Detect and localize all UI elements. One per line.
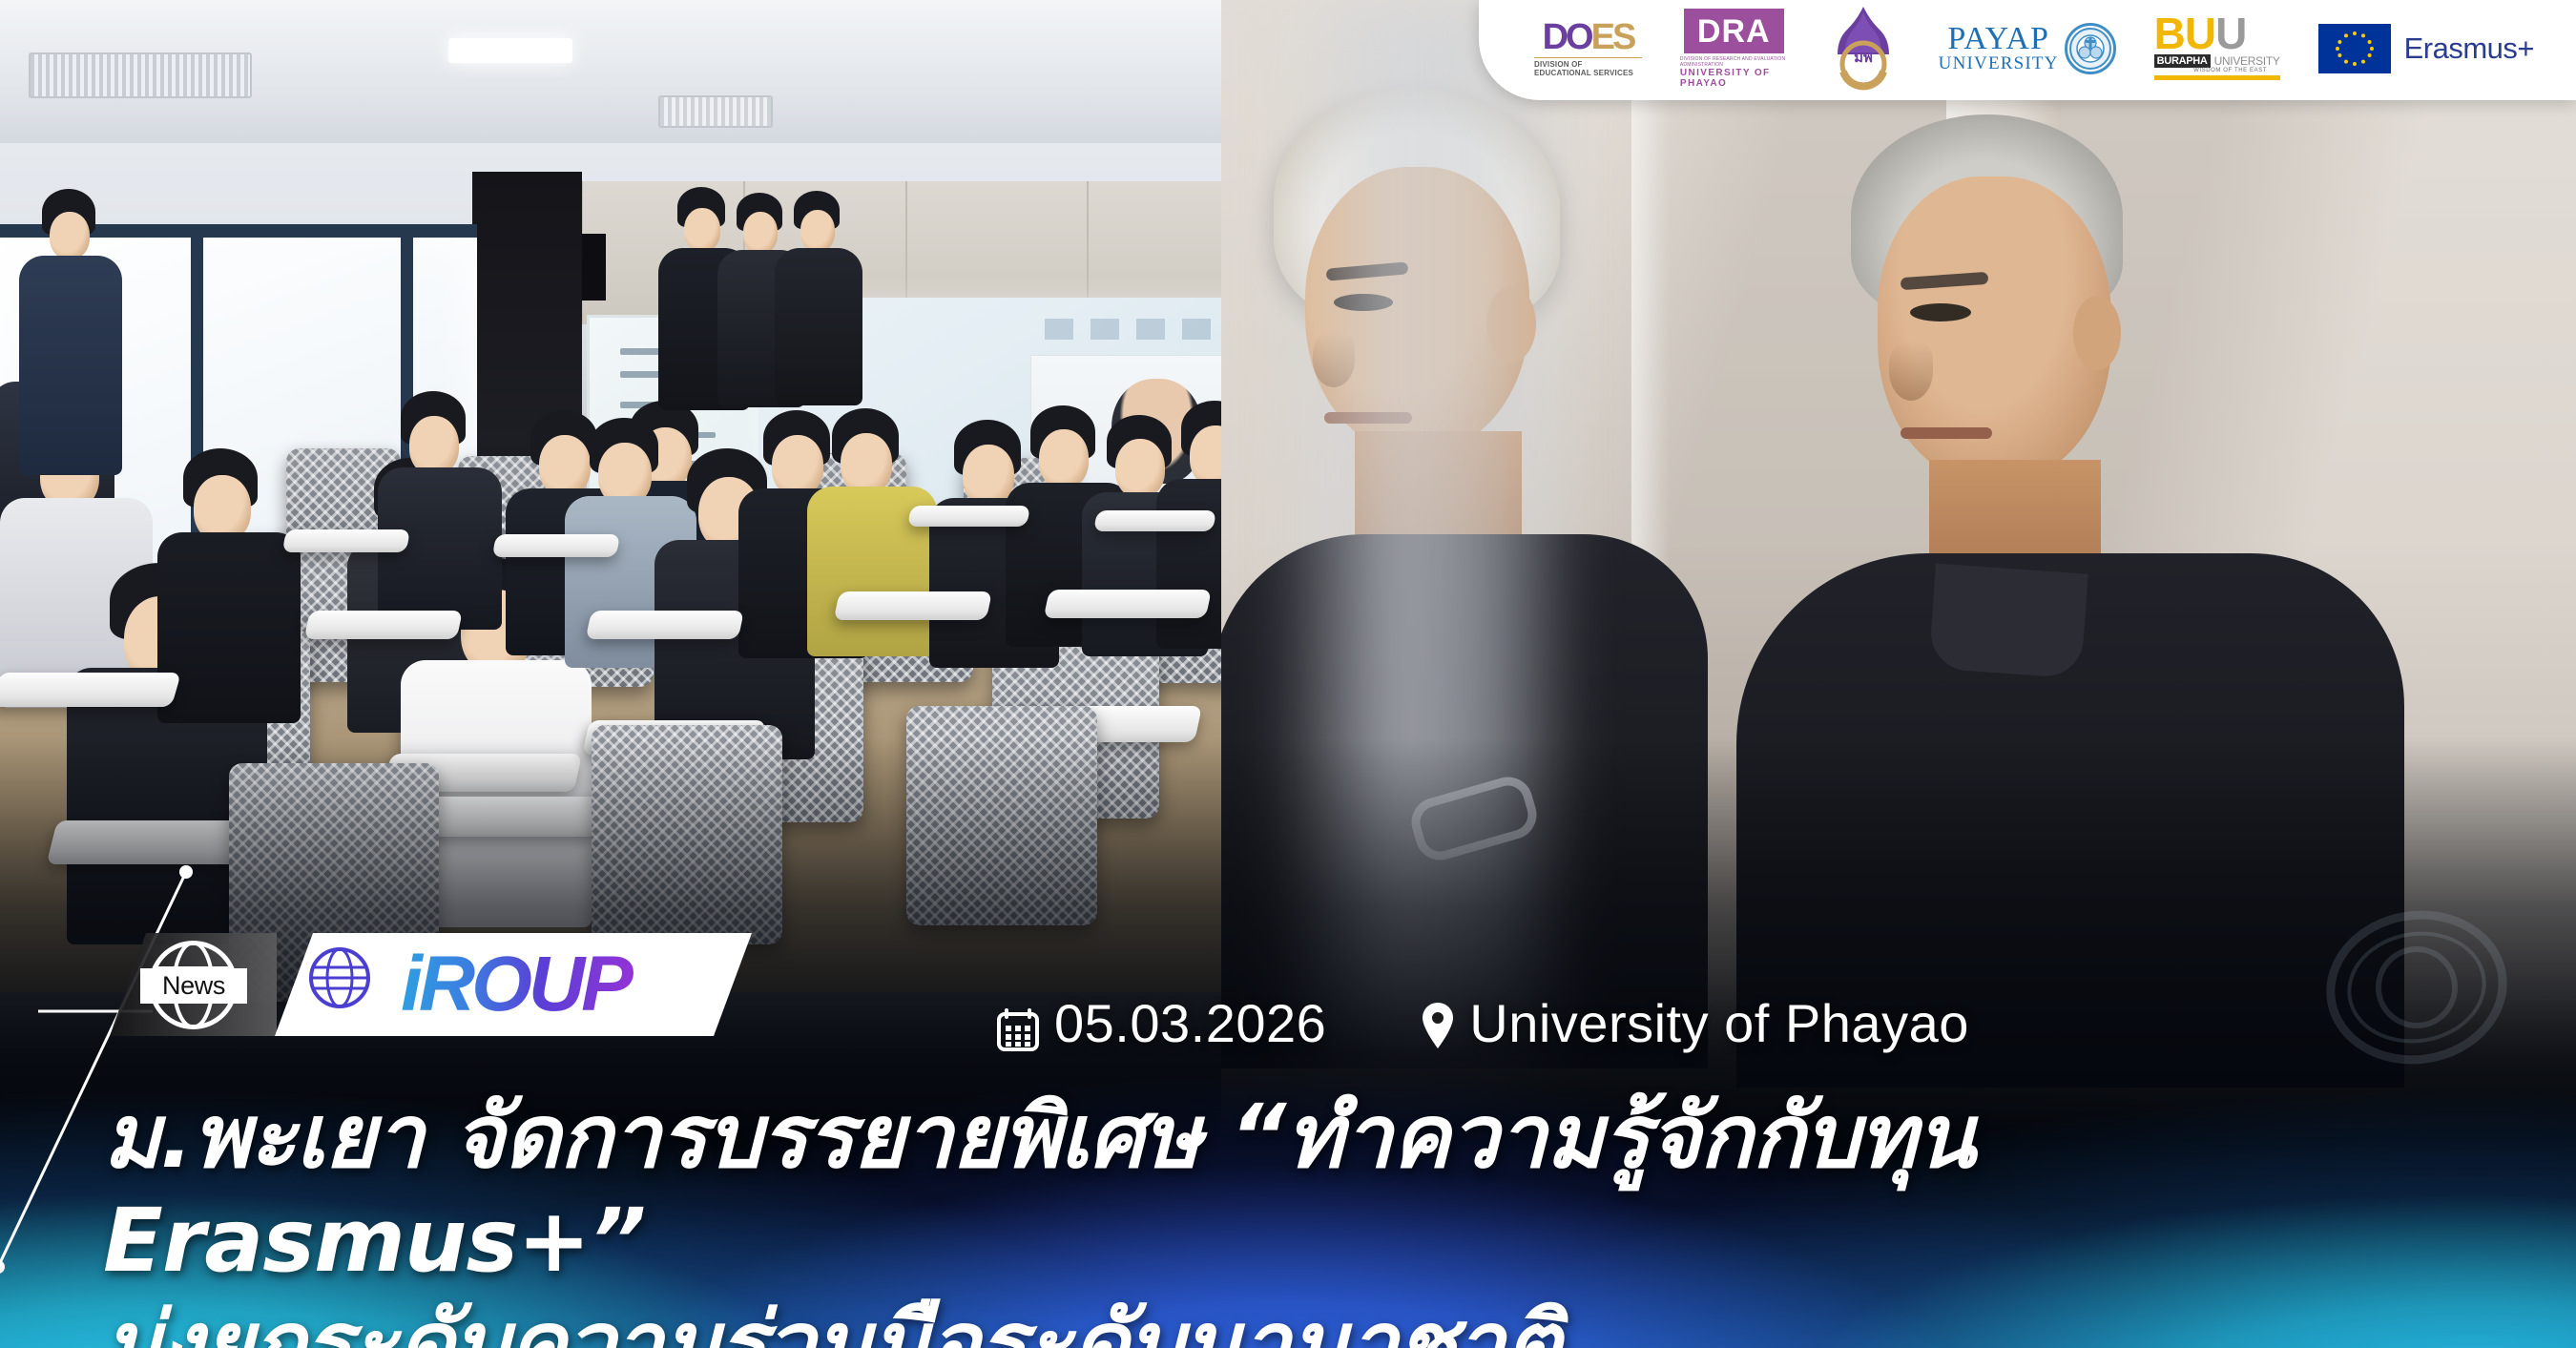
news-badge-left: News — [110, 933, 277, 1036]
event-date: 05.03.2026 — [1054, 992, 1326, 1054]
calendar-icon — [997, 1002, 1039, 1046]
buu-u: U — [2215, 16, 2246, 52]
desk — [907, 506, 1030, 527]
eu-flag-icon — [2318, 24, 2391, 73]
news-brand-badge[interactable]: News iROUP — [110, 933, 752, 1036]
iroup-wordmark: iROUP — [401, 945, 635, 1024]
erasmus-wordmark: Erasmus+ — [2404, 31, 2534, 66]
desk — [282, 529, 410, 552]
dra-wordmark: DRA — [1697, 15, 1771, 48]
globe-icon: News — [148, 940, 239, 1030]
payap-line-1: PAYAP — [1947, 24, 2048, 54]
headline-line-1: ม.พะเยา จัดการบรรยายพิเศษ “ทำความรู้จักก… — [103, 1086, 1975, 1292]
university-of-phayao-seal: มพ — [1826, 5, 1901, 93]
does-letter-o: O — [1566, 19, 1591, 55]
date-group: 05.03.2026 — [997, 992, 1326, 1054]
erasmus-plus-logo: Erasmus+ — [2318, 24, 2534, 73]
desk — [304, 611, 463, 639]
location-group: University of Phayao — [1422, 992, 1969, 1054]
desk — [0, 673, 181, 707]
does-letter-e: E — [1591, 19, 1612, 55]
buu-sub-burapha: BURAPHA — [2154, 54, 2211, 68]
event-location: University of Phayao — [1469, 992, 1969, 1054]
buu-accent-bar — [2154, 75, 2280, 80]
dra-subtitle-1: DIVISION OF RESEARCH AND EVALUATION ADMI… — [1680, 56, 1788, 68]
does-letter-s: S — [1612, 19, 1633, 55]
iroup-globe-icon — [308, 946, 371, 1009]
map-pin-icon — [1422, 1000, 1454, 1047]
meta-line: 05.03.2026 University of Phayao — [997, 992, 1969, 1054]
desk — [834, 591, 992, 620]
payap-watermark-seal — [2316, 898, 2519, 1077]
does-logo: DOES DIVISION OF EDUCATIONAL SERVICES — [1534, 19, 1642, 77]
dra-logo: DRA DIVISION OF RESEARCH AND EVALUATION … — [1680, 9, 1788, 89]
headline: ม.พะเยา จัดการบรรยายพิเศษ “ทำความรู้จักก… — [103, 1086, 2545, 1348]
partner-logo-bar: DOES DIVISION OF EDUCATIONAL SERVICES DR… — [1479, 0, 2576, 100]
payap-line-2: UNIVERSITY — [1939, 55, 2059, 73]
news-label: News — [140, 968, 247, 1004]
desk — [1044, 590, 1212, 618]
desk — [492, 534, 620, 557]
desk — [586, 611, 744, 639]
does-subtitle: DIVISION OF EDUCATIONAL SERVICES — [1534, 57, 1642, 77]
desk — [1093, 510, 1216, 531]
iroup-badge-right: iROUP — [275, 933, 752, 1036]
payap-university-logo: PAYAP UNIVERSITY — [1939, 23, 2116, 74]
buu-tagline: WISDOM OF THE EAST — [2193, 68, 2267, 73]
buu-sub-university: UNIVERSITY — [2214, 54, 2280, 68]
dra-subtitle-2: UNIVERSITY OF PHAYAO — [1680, 68, 1788, 89]
news-poster: 03 3 — [0, 0, 2576, 1348]
upseal-label: มพ — [1854, 49, 1873, 66]
payap-seal-icon — [2065, 23, 2116, 74]
buu-bu: BU — [2154, 16, 2215, 52]
burapha-university-logo: BUU BURAPHA UNIVERSITY WISDOM OF THE EAS… — [2154, 16, 2280, 80]
ceiling-vent — [658, 95, 773, 128]
headline-line-2: มุ่งยกระดับความร่วมมือระดับนานาชาติ — [103, 1293, 2545, 1348]
does-letter-d: D — [1543, 19, 1566, 55]
